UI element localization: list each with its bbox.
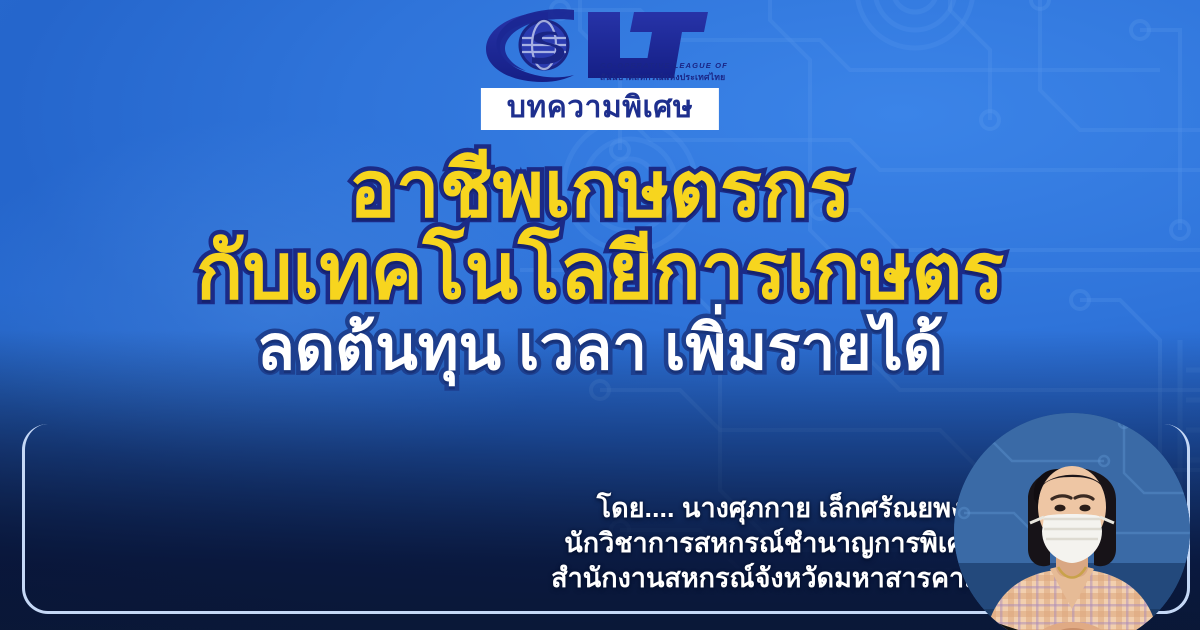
headline-block: อาชีพเกษตรกร กับเทคโนโลยีการเกษตร ลดต้นท… [0,150,1200,380]
clt-logo: CO-OPERATIVE LEAGUE OF THAILAND สันนิบาต… [0,2,1200,94]
byline-block: โดย.... นางศุภกาย เล็กศรัณยพงษ์ นักวิชาก… [551,491,982,596]
portrait-circle-mask [954,413,1190,630]
logo-subtitle-th: สันนิบาตสหกรณ์แห่งประเทศไทย [600,72,725,82]
badge-label: บทความพิเศษ [507,90,693,126]
banner-canvas: CO-OPERATIVE LEAGUE OF THAILAND สันนิบาต… [0,0,1200,630]
byline-office: สำนักงานสหกรณ์จังหวัดมหาสารคาม [551,561,982,596]
headline-line-3: ลดต้นทุน เวลา เพิ่มรายได้ [0,317,1200,380]
headline-line-2: กับเทคโนโลยีการเกษตร [0,232,1200,312]
speaker-portrait [944,405,1194,630]
byline-position: นักวิชาการสหกรณ์ชำนาญการพิเศษ [551,526,982,561]
special-article-badge: บทความพิเศษ [481,88,719,130]
byline-author: โดย.... นางศุภกาย เล็กศรัณยพงษ์ [551,491,982,526]
headline-line-1: อาชีพเกษตรกร [0,150,1200,230]
logo-subtitle-en: CO-OPERATIVE LEAGUE OF THAILAND [600,61,730,70]
